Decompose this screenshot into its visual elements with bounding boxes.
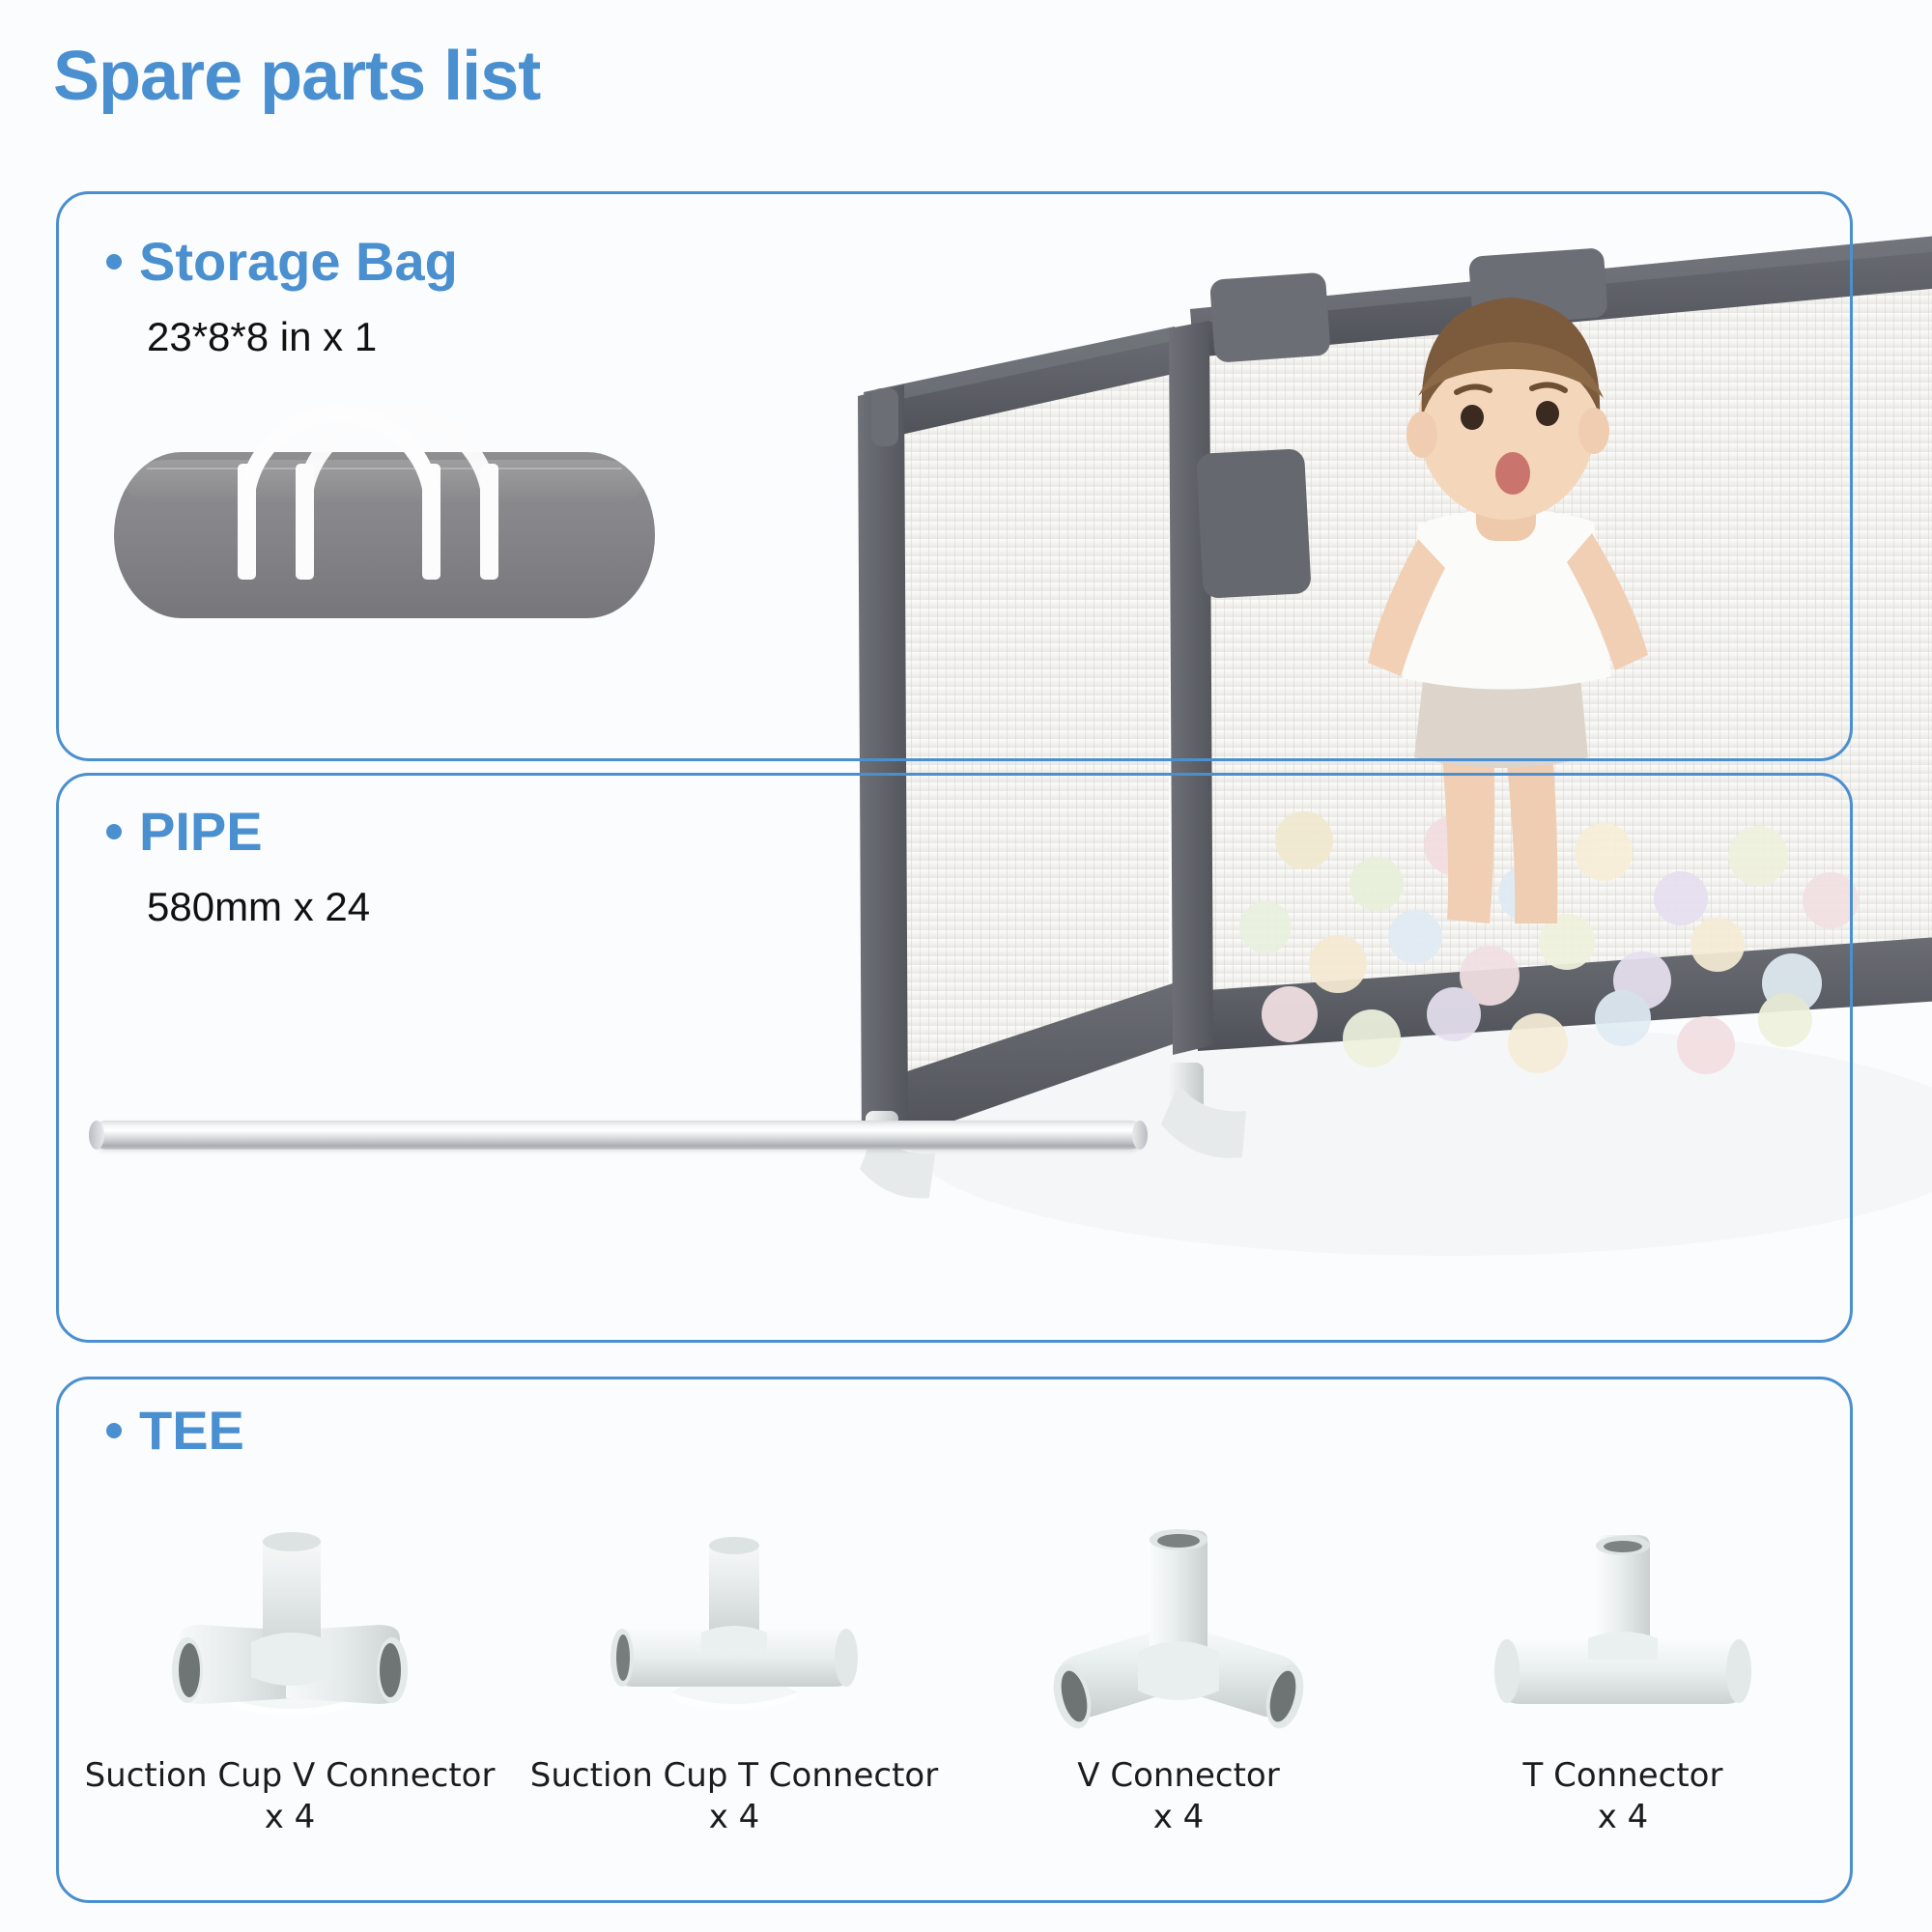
card-pipe <box>56 773 1853 1343</box>
connector-item: Suction Cup V Connector x 4 <box>68 1507 512 1836</box>
pipe-heading-label: PIPE <box>139 800 263 863</box>
connector-item: V Connector x 4 <box>956 1507 1401 1836</box>
storage-bag-heading-label: Storage Bag <box>139 230 458 293</box>
page-title: Spare parts list <box>53 37 540 116</box>
connector-qty: x 4 <box>1598 1798 1649 1836</box>
v-connector-icon <box>1034 1507 1323 1748</box>
connector-label: T Connector <box>1523 1754 1723 1798</box>
pipe-heading: PIPE <box>106 800 263 863</box>
pipe-end-right <box>1132 1121 1148 1150</box>
t-connector-icon <box>1478 1507 1768 1748</box>
connector-qty: x 4 <box>1153 1798 1205 1836</box>
pipe-illustration <box>92 1113 1145 1157</box>
connector-item: Suction Cup T Connector x 4 <box>512 1507 956 1836</box>
connector-qty: x 4 <box>709 1798 760 1836</box>
tee-heading-label: TEE <box>139 1399 244 1462</box>
storage-bag-illustration <box>114 406 655 618</box>
connector-label: Suction Cup T Connector <box>530 1754 938 1798</box>
bullet-icon <box>106 254 122 270</box>
pipe-end-left <box>89 1121 104 1150</box>
connector-label: V Connector <box>1077 1754 1279 1798</box>
suction-cup-v-connector-icon <box>145 1507 435 1748</box>
pipe-tube <box>92 1121 1145 1150</box>
storage-bag-heading: Storage Bag <box>106 230 458 293</box>
connector-fittings-row: Suction Cup V Connector x 4 <box>68 1507 1845 1893</box>
connector-label: Suction Cup V Connector <box>85 1754 496 1798</box>
connector-item: T Connector x 4 <box>1401 1507 1845 1836</box>
bullet-icon <box>106 824 122 839</box>
pipe-spec: 580mm x 24 <box>147 884 370 930</box>
spare-parts-page: Spare parts list <box>0 0 1932 1932</box>
bullet-icon <box>106 1423 122 1438</box>
tee-heading: TEE <box>106 1399 244 1462</box>
storage-bag-spec: 23*8*8 in x 1 <box>147 314 377 360</box>
connector-qty: x 4 <box>265 1798 316 1836</box>
suction-cup-t-connector-icon <box>589 1507 879 1748</box>
